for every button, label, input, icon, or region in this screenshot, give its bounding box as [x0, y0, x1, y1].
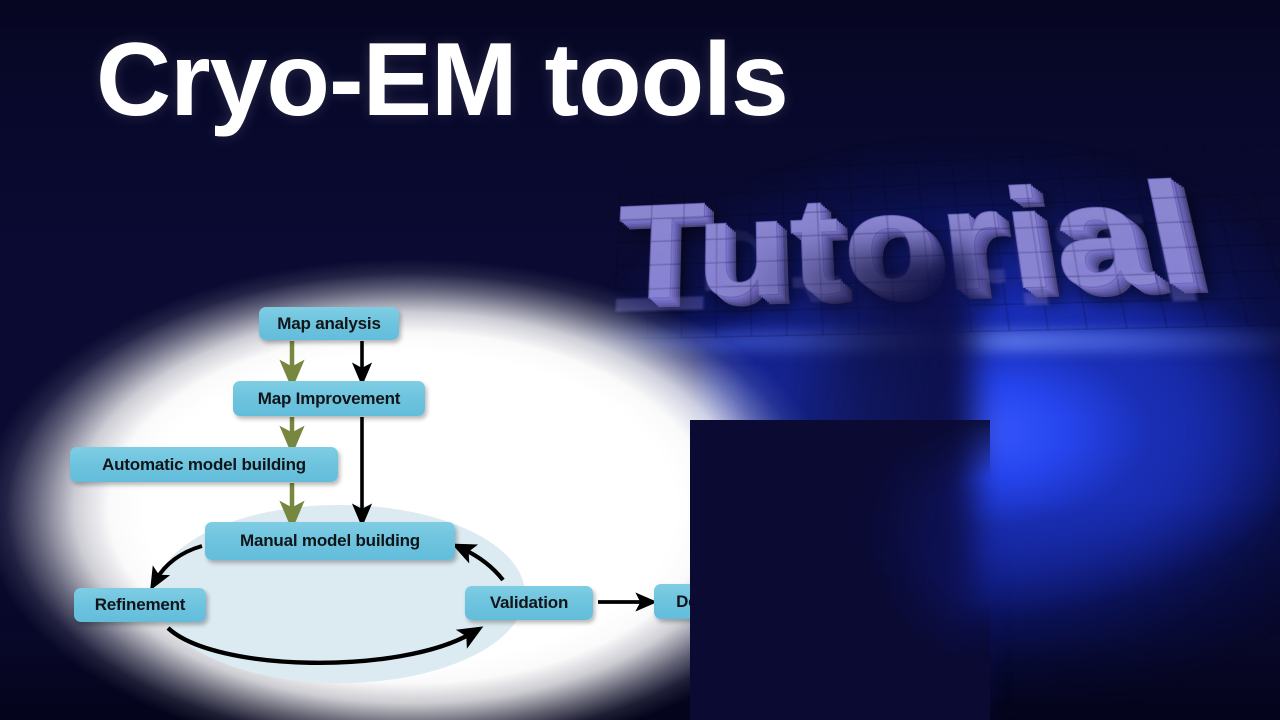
cryo-em-workflow-diagram: Map analysis Map Improvement Automatic m…	[0, 0, 1280, 720]
node-refinement[interactable]: Refinement	[74, 588, 206, 622]
arrow-manual-model-building-to-refinement	[156, 546, 202, 580]
node-deposition[interactable]: Deposition	[654, 584, 784, 619]
node-manual-model-building[interactable]: Manual model building	[205, 522, 455, 560]
node-validation[interactable]: Validation	[465, 586, 593, 620]
node-automatic-model-building[interactable]: Automatic model building	[70, 447, 338, 482]
arrow-refinement-to-validation	[168, 628, 472, 663]
arrow-validation-to-manual-model-building	[463, 549, 503, 580]
slide-canvas: Tutorial Tutorial Cryo-EM tools	[0, 0, 1280, 720]
node-map-improvement[interactable]: Map Improvement	[233, 381, 425, 416]
node-map-analysis[interactable]: Map analysis	[259, 307, 399, 340]
